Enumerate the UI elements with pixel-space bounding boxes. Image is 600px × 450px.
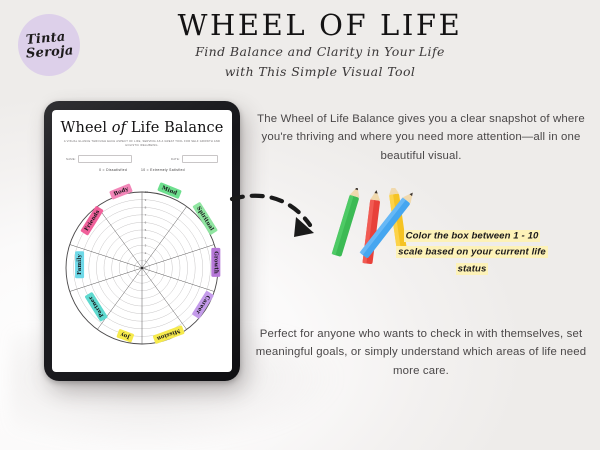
name-field-label: NAME:: [66, 157, 76, 161]
wheel-spoke-line: [97, 268, 142, 329]
callout-line3: status: [458, 263, 487, 275]
callout-line1: Color the box between 1 - 10: [406, 230, 539, 242]
wheel-spoke-line: [97, 207, 142, 268]
worksheet-title-part3: Life Balance: [131, 120, 224, 136]
poster-canvas: Tinta Seroja WHEEL OF LIFE Find Balance …: [0, 0, 600, 450]
scale-high-label: 10 = Extremely Satisfied: [141, 168, 185, 172]
wheel-of-life-chart[interactable]: 109876543210 MindSpiritualGrowthCareerMi…: [55, 178, 229, 360]
scale-low-label: 0 = Dissatisfied: [99, 168, 127, 172]
wheel-axis-tick: 3: [145, 243, 147, 247]
pencil-green: [332, 188, 363, 257]
brand-logo-line2: Seroja: [26, 44, 74, 60]
wheel-spoke-line: [142, 207, 187, 268]
name-input[interactable]: [78, 155, 132, 163]
date-field-label: DATE:: [171, 157, 180, 161]
paragraph-top: The Wheel of Life Balance gives you a cl…: [252, 110, 590, 165]
worksheet-scale-legend: 0 = Dissatisfied10 = Extremely Satisfied: [52, 168, 232, 172]
worksheet-description: A VISUAL GLANCE THROUGH EACH ASPECT OF L…: [62, 140, 222, 148]
paragraph-bottom: Perfect for anyone who wants to check in…: [252, 325, 590, 380]
wheel-label-growth[interactable]: Growth: [211, 248, 220, 277]
worksheet-field-row: NAME: DATE:: [66, 155, 218, 163]
tablet-device-mockup: Wheel of Life Balance A VISUAL GLANCE TH…: [44, 101, 240, 381]
callout-line2: scale based on your current life: [398, 246, 546, 258]
page-subtitle-line2: with This Simple Visual Tool: [120, 64, 520, 79]
wheel-center-dot: [141, 267, 144, 270]
date-field-group: DATE:: [171, 155, 218, 163]
wheel-axis-tick: 2: [145, 251, 147, 255]
wheel-spoke-line: [142, 268, 187, 329]
page-title: WHEEL OF LIFE: [120, 8, 520, 42]
tablet-screen: Wheel of Life Balance A VISUAL GLANCE TH…: [52, 110, 232, 372]
wheel-label-family[interactable]: Family: [75, 251, 84, 278]
name-field-group: NAME:: [66, 155, 132, 163]
date-input[interactable]: [182, 155, 218, 163]
callout-highlight: Color the box between 1 - 10 scale based…: [360, 228, 584, 278]
wheel-axis-tick: 10: [145, 190, 149, 194]
brand-logo: Tinta Seroja: [18, 14, 80, 76]
worksheet-title-part1: Wheel: [61, 120, 112, 136]
page-subtitle-line1: Find Balance and Clarity in Your Life: [120, 44, 520, 59]
worksheet-title: Wheel of Life Balance: [52, 120, 232, 136]
worksheet-title-part2: of: [112, 120, 131, 136]
